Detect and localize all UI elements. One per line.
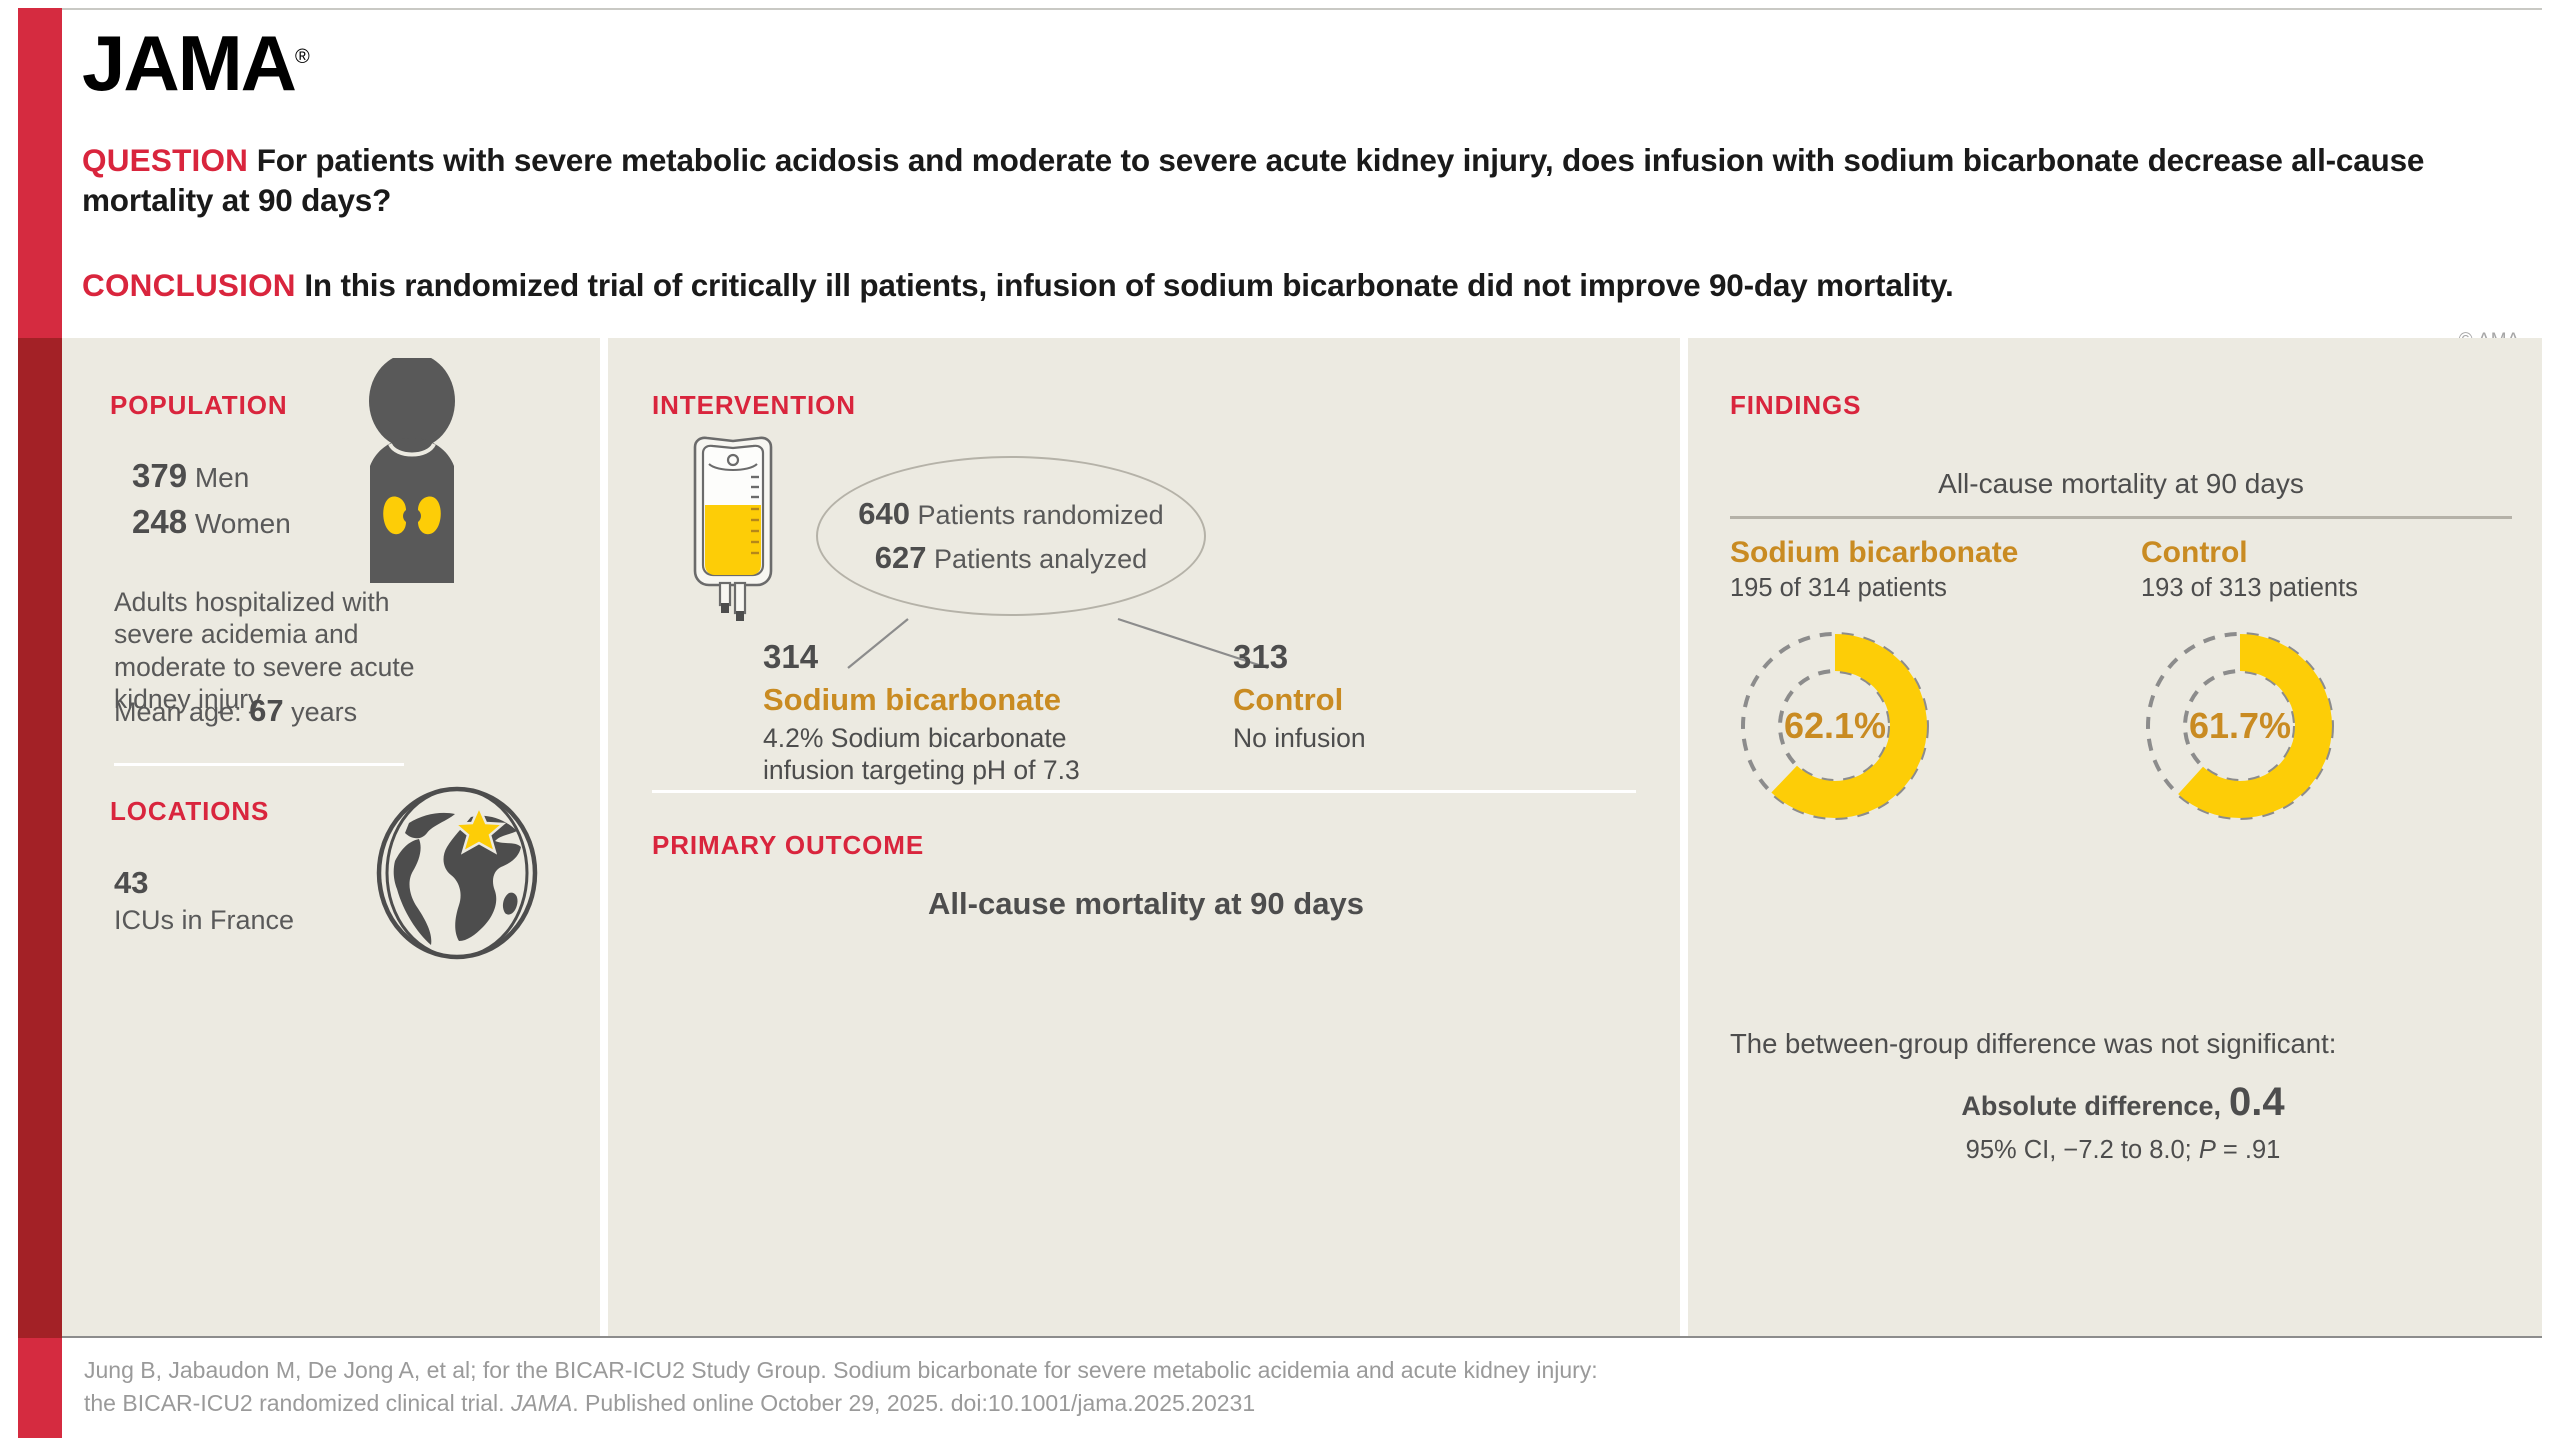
analyzed-row: 627 Patients analyzed	[875, 536, 1147, 580]
locations-count-block: 43 ICUs in France	[114, 863, 294, 937]
analyzed-count: 627	[875, 540, 927, 575]
donut-chart-control: 61.7%	[2135, 621, 2345, 831]
arm-n: 314	[763, 638, 1093, 676]
randomized-row: 640 Patients randomized	[858, 492, 1163, 536]
population-counts: 379 Men 248 Women	[132, 453, 291, 545]
locations-count: 43	[114, 863, 294, 903]
donut-percent-label: 62.1%	[1730, 621, 1940, 831]
arm-sodium-bicarbonate: 314 Sodium bicarbonate 4.2% Sodium bicar…	[763, 638, 1093, 787]
accent-rail-bottom	[18, 1338, 62, 1438]
absolute-difference-value: 0.4	[2229, 1080, 2285, 1124]
men-count: 379	[132, 457, 187, 494]
jama-logo-text: JAMA	[82, 19, 295, 107]
person-kidneys-icon	[332, 358, 492, 583]
ci-p-symbol: P	[2199, 1136, 2216, 1164]
globe-star-icon	[367, 783, 547, 963]
content-band: POPULATION 379 Men 248 Women Adults	[62, 338, 2542, 1338]
men-label: Men	[195, 462, 249, 493]
absolute-difference-label: Absolute difference,	[1961, 1091, 2221, 1121]
arm-control: 313 Control No infusion	[1233, 638, 1366, 755]
women-label: Women	[195, 508, 291, 539]
citation: Jung B, Jabaudon M, De Jong A, et al; fo…	[84, 1354, 2522, 1419]
iv-bag-icon	[673, 433, 793, 623]
mean-age-unit: years	[291, 697, 357, 727]
conclusion-block: CONCLUSION In this randomized trial of c…	[82, 265, 2512, 305]
confidence-interval: 95% CI, −7.2 to 8.0; P = .91	[1730, 1136, 2516, 1165]
significance-note: The between-group difference was not sig…	[1730, 1028, 2516, 1060]
population-title: POPULATION	[110, 390, 288, 421]
findings-divider	[1730, 516, 2512, 519]
panel-divider-1	[600, 338, 608, 1336]
intervention-title: INTERVENTION	[652, 390, 856, 421]
primary-outcome-title: PRIMARY OUTCOME	[652, 830, 924, 861]
randomization-counts: 640 Patients randomized 627 Patients ana…	[818, 458, 1204, 614]
intervention-panel: INTERVENTION	[608, 338, 1680, 1336]
question-kicker: QUESTION	[82, 142, 248, 178]
arm-name: Control	[1233, 682, 1366, 718]
mean-age-value: 67	[249, 693, 283, 728]
citation-line-2-a: the BICAR-ICU2 randomized clinical trial…	[84, 1390, 511, 1416]
intervention-divider	[652, 790, 1636, 793]
question-text: For patients with severe metabolic acido…	[82, 142, 2424, 218]
findings-group-name: Sodium bicarbonate	[1730, 536, 2105, 570]
registered-mark-icon: ®	[295, 46, 308, 68]
conclusion-text: In this randomized trial of critically i…	[304, 267, 1953, 303]
header: JAMA® QUESTION For patients with severe …	[62, 8, 2542, 338]
question-block: QUESTION For patients with severe metabo…	[82, 140, 2512, 221]
locations-title: LOCATIONS	[110, 796, 269, 827]
jama-logo: JAMA®	[82, 24, 308, 102]
population-panel: POPULATION 379 Men 248 Women Adults	[62, 338, 600, 1336]
locations-label: ICUs in France	[114, 905, 294, 935]
accent-rail-middle	[18, 338, 62, 1338]
findings-columns: Sodium bicarbonate 195 of 314 patients 6…	[1730, 536, 2516, 831]
randomization-ellipse: 640 Patients randomized 627 Patients ana…	[816, 456, 1206, 616]
footer: Jung B, Jabaudon M, De Jong A, et al; fo…	[62, 1340, 2542, 1438]
visual-abstract-page: JAMA® QUESTION For patients with severe …	[0, 0, 2560, 1445]
findings-title: FINDINGS	[1730, 390, 1861, 421]
findings-outcome-label: All-cause mortality at 90 days	[1730, 468, 2512, 500]
citation-journal: JAMA	[511, 1390, 572, 1416]
randomized-count: 640	[858, 496, 910, 531]
arm-name: Sodium bicarbonate	[763, 682, 1093, 718]
findings-column-control: Control 193 of 313 patients 61.7%	[2141, 536, 2516, 831]
randomized-label: Patients randomized	[918, 500, 1164, 530]
mean-age: Mean age: 67 years	[114, 693, 357, 729]
primary-outcome-text: All-cause mortality at 90 days	[652, 886, 1640, 922]
findings-group-name: Control	[2141, 536, 2516, 570]
findings-group-subtitle: 195 of 314 patients	[1730, 574, 2105, 603]
women-count: 248	[132, 503, 187, 540]
population-divider	[114, 763, 404, 766]
citation-line-1: Jung B, Jabaudon M, De Jong A, et al; fo…	[84, 1357, 1598, 1383]
absolute-difference: Absolute difference,0.4	[1730, 1080, 2516, 1125]
donut-percent-label: 61.7%	[2135, 621, 2345, 831]
women-count-row: 248 Women	[132, 499, 291, 545]
analyzed-label: Patients analyzed	[934, 544, 1147, 574]
mean-age-label: Mean age:	[114, 697, 242, 727]
arm-description: 4.2% Sodium bicarbonate infusion targeti…	[763, 723, 1093, 787]
ci-prefix: 95% CI, −7.2 to 8.0;	[1966, 1136, 2199, 1164]
arm-n: 313	[1233, 638, 1366, 676]
accent-rail-top	[18, 8, 62, 338]
arm-description: No infusion	[1233, 723, 1366, 755]
findings-group-subtitle: 193 of 313 patients	[2141, 574, 2516, 603]
conclusion-kicker: CONCLUSION	[82, 267, 296, 303]
findings-panel: FINDINGS All-cause mortality at 90 days …	[1688, 338, 2542, 1336]
citation-line-2-b: . Published online October 29, 2025. doi…	[572, 1390, 1255, 1416]
findings-column-sodium-bicarbonate: Sodium bicarbonate 195 of 314 patients 6…	[1730, 536, 2105, 831]
panel-divider-2	[1680, 338, 1688, 1336]
men-count-row: 379 Men	[132, 453, 291, 499]
ci-suffix: = .91	[2216, 1136, 2281, 1164]
donut-chart-sodium-bicarbonate: 62.1%	[1730, 621, 1940, 831]
